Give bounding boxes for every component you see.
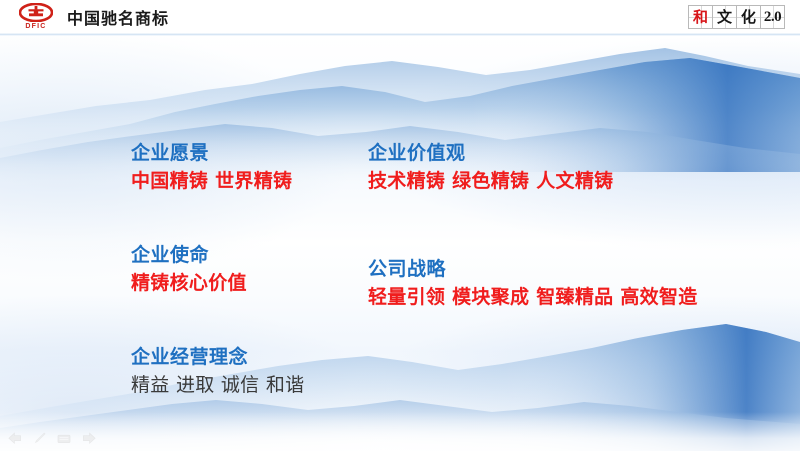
header-separator-rule bbox=[0, 33, 800, 36]
dfic-logo-wordmark: DFIC bbox=[25, 23, 46, 31]
brandmark-cell-1: 和 bbox=[688, 5, 713, 29]
slide-content: 企业愿景 中国精铸 世界精铸 企业使命 精铸核心价值 企业经营理念 精益 进取 … bbox=[0, 0, 800, 451]
block-vision: 企业愿景 中国精铸 世界精铸 bbox=[131, 140, 381, 196]
pen-icon[interactable] bbox=[33, 432, 46, 445]
header-bar: DFIC 中国驰名商标 和 文 化 2.0 bbox=[0, 0, 800, 34]
mission-body: 精铸核心价值 bbox=[131, 268, 381, 298]
brandmark-cell-2: 文 bbox=[712, 5, 737, 29]
brandmark-cell-4: 2.0 bbox=[760, 5, 785, 29]
slide-canvas: DFIC 中国驰名商标 和 文 化 2.0 企业愿景 中国精铸 世界精铸 bbox=[0, 0, 800, 451]
vision-body: 中国精铸 世界精铸 bbox=[131, 166, 381, 196]
strategy-body: 轻量引领 模块聚成 智臻精品 高效智造 bbox=[368, 282, 788, 312]
values-heading: 企业价值观 bbox=[368, 140, 788, 166]
brandmark-hewenhua: 和 文 化 2.0 bbox=[689, 5, 785, 29]
menu-icon[interactable] bbox=[57, 433, 71, 445]
brandmark-char-1: 和 bbox=[693, 10, 708, 25]
brandmark-version: 2.0 bbox=[764, 10, 781, 25]
block-values: 企业价值观 技术精铸 绿色精铸 人文精铸 bbox=[368, 140, 788, 196]
values-body: 技术精铸 绿色精铸 人文精铸 bbox=[368, 166, 788, 196]
brandmark-char-3: 化 bbox=[741, 10, 756, 25]
vision-heading: 企业愿景 bbox=[131, 140, 381, 166]
management-philosophy-heading: 企业经营理念 bbox=[131, 344, 381, 370]
dfic-logo: DFIC bbox=[14, 2, 58, 32]
block-management-philosophy: 企业经营理念 精益 进取 诚信 和谐 bbox=[131, 344, 381, 400]
dfic-oval-logo-icon bbox=[19, 3, 53, 22]
slideshow-nav-bar[interactable] bbox=[8, 432, 96, 445]
strategy-heading: 公司战略 bbox=[368, 256, 788, 282]
brandmark-cell-3: 化 bbox=[736, 5, 761, 29]
right-column: 企业价值观 技术精铸 绿色精铸 人文精铸 公司战略 轻量引领 模块聚成 智臻精品… bbox=[368, 140, 788, 334]
header-title: 中国驰名商标 bbox=[67, 5, 169, 29]
left-column: 企业愿景 中国精铸 世界精铸 企业使命 精铸核心价值 企业经营理念 精益 进取 … bbox=[131, 140, 381, 422]
block-strategy: 公司战略 轻量引领 模块聚成 智臻精品 高效智造 bbox=[368, 256, 788, 312]
previous-arrow-icon[interactable] bbox=[8, 432, 22, 445]
management-philosophy-body: 精益 进取 诚信 和谐 bbox=[131, 370, 381, 400]
brandmark-char-2: 文 bbox=[717, 10, 732, 25]
mission-heading: 企业使命 bbox=[131, 242, 381, 268]
block-mission: 企业使命 精铸核心价值 bbox=[131, 242, 381, 298]
next-arrow-icon[interactable] bbox=[82, 432, 96, 445]
